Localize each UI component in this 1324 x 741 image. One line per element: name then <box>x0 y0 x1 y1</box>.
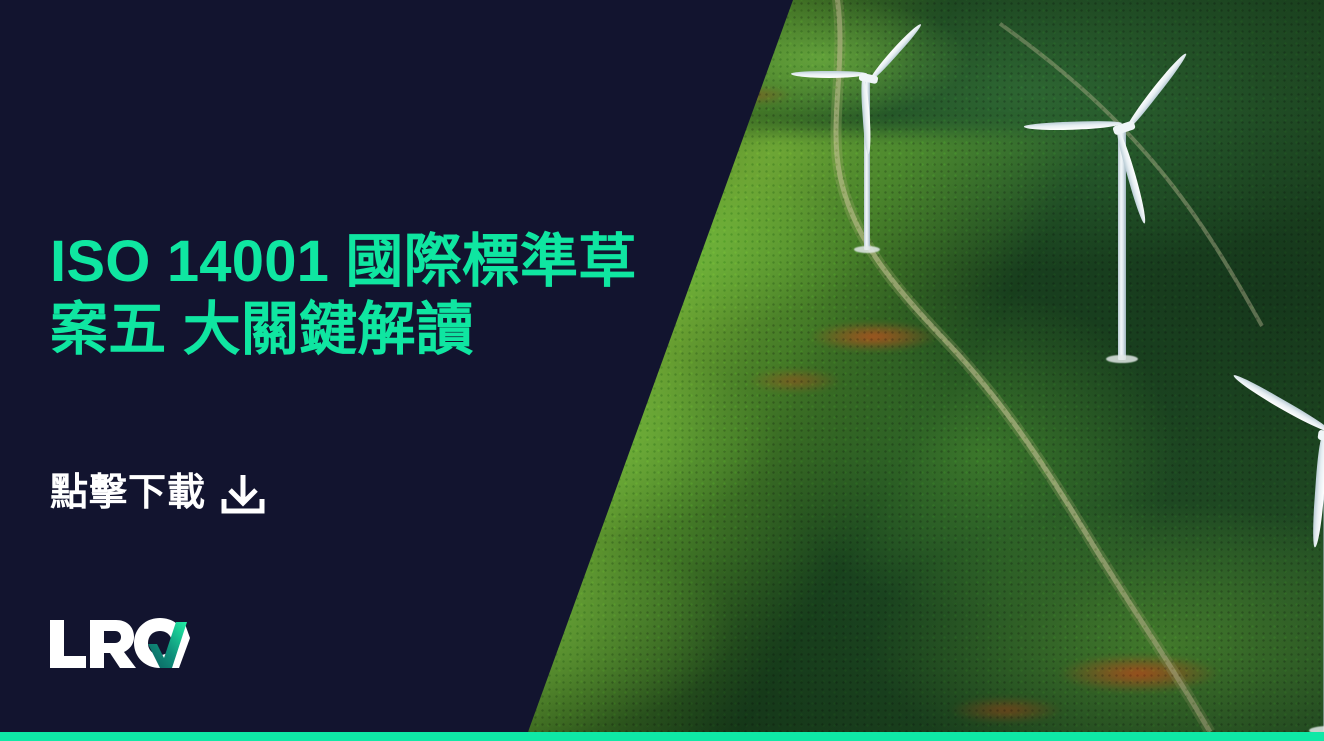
hero-photo <box>0 0 1324 732</box>
photo-vignette <box>0 0 1324 732</box>
turbine-base <box>854 246 880 253</box>
lrqa-logo <box>48 616 190 670</box>
banner-root: ISO 14001 國際標準草 案五 大關鍵解讀 點擊下載 <box>0 0 1324 741</box>
footer-accent-bar <box>0 732 1324 741</box>
turbine-base <box>1106 355 1138 363</box>
turbine-middle <box>1062 128 1182 360</box>
download-icon[interactable] <box>220 470 266 516</box>
turbine-lower-right <box>1258 436 1324 732</box>
turbine-blade <box>860 78 872 154</box>
turbine-blade <box>1311 435 1324 547</box>
turbine-upper-left <box>822 78 912 250</box>
logo-letter-l <box>50 620 86 668</box>
page-title: ISO 14001 國際標準草 案五 大關鍵解讀 <box>50 228 690 365</box>
photo-canvas <box>0 0 1324 732</box>
download-cta[interactable]: 點擊下載 <box>50 470 266 516</box>
download-cta-label: 點擊下載 <box>50 474 206 512</box>
logo-letter-r <box>90 620 136 668</box>
